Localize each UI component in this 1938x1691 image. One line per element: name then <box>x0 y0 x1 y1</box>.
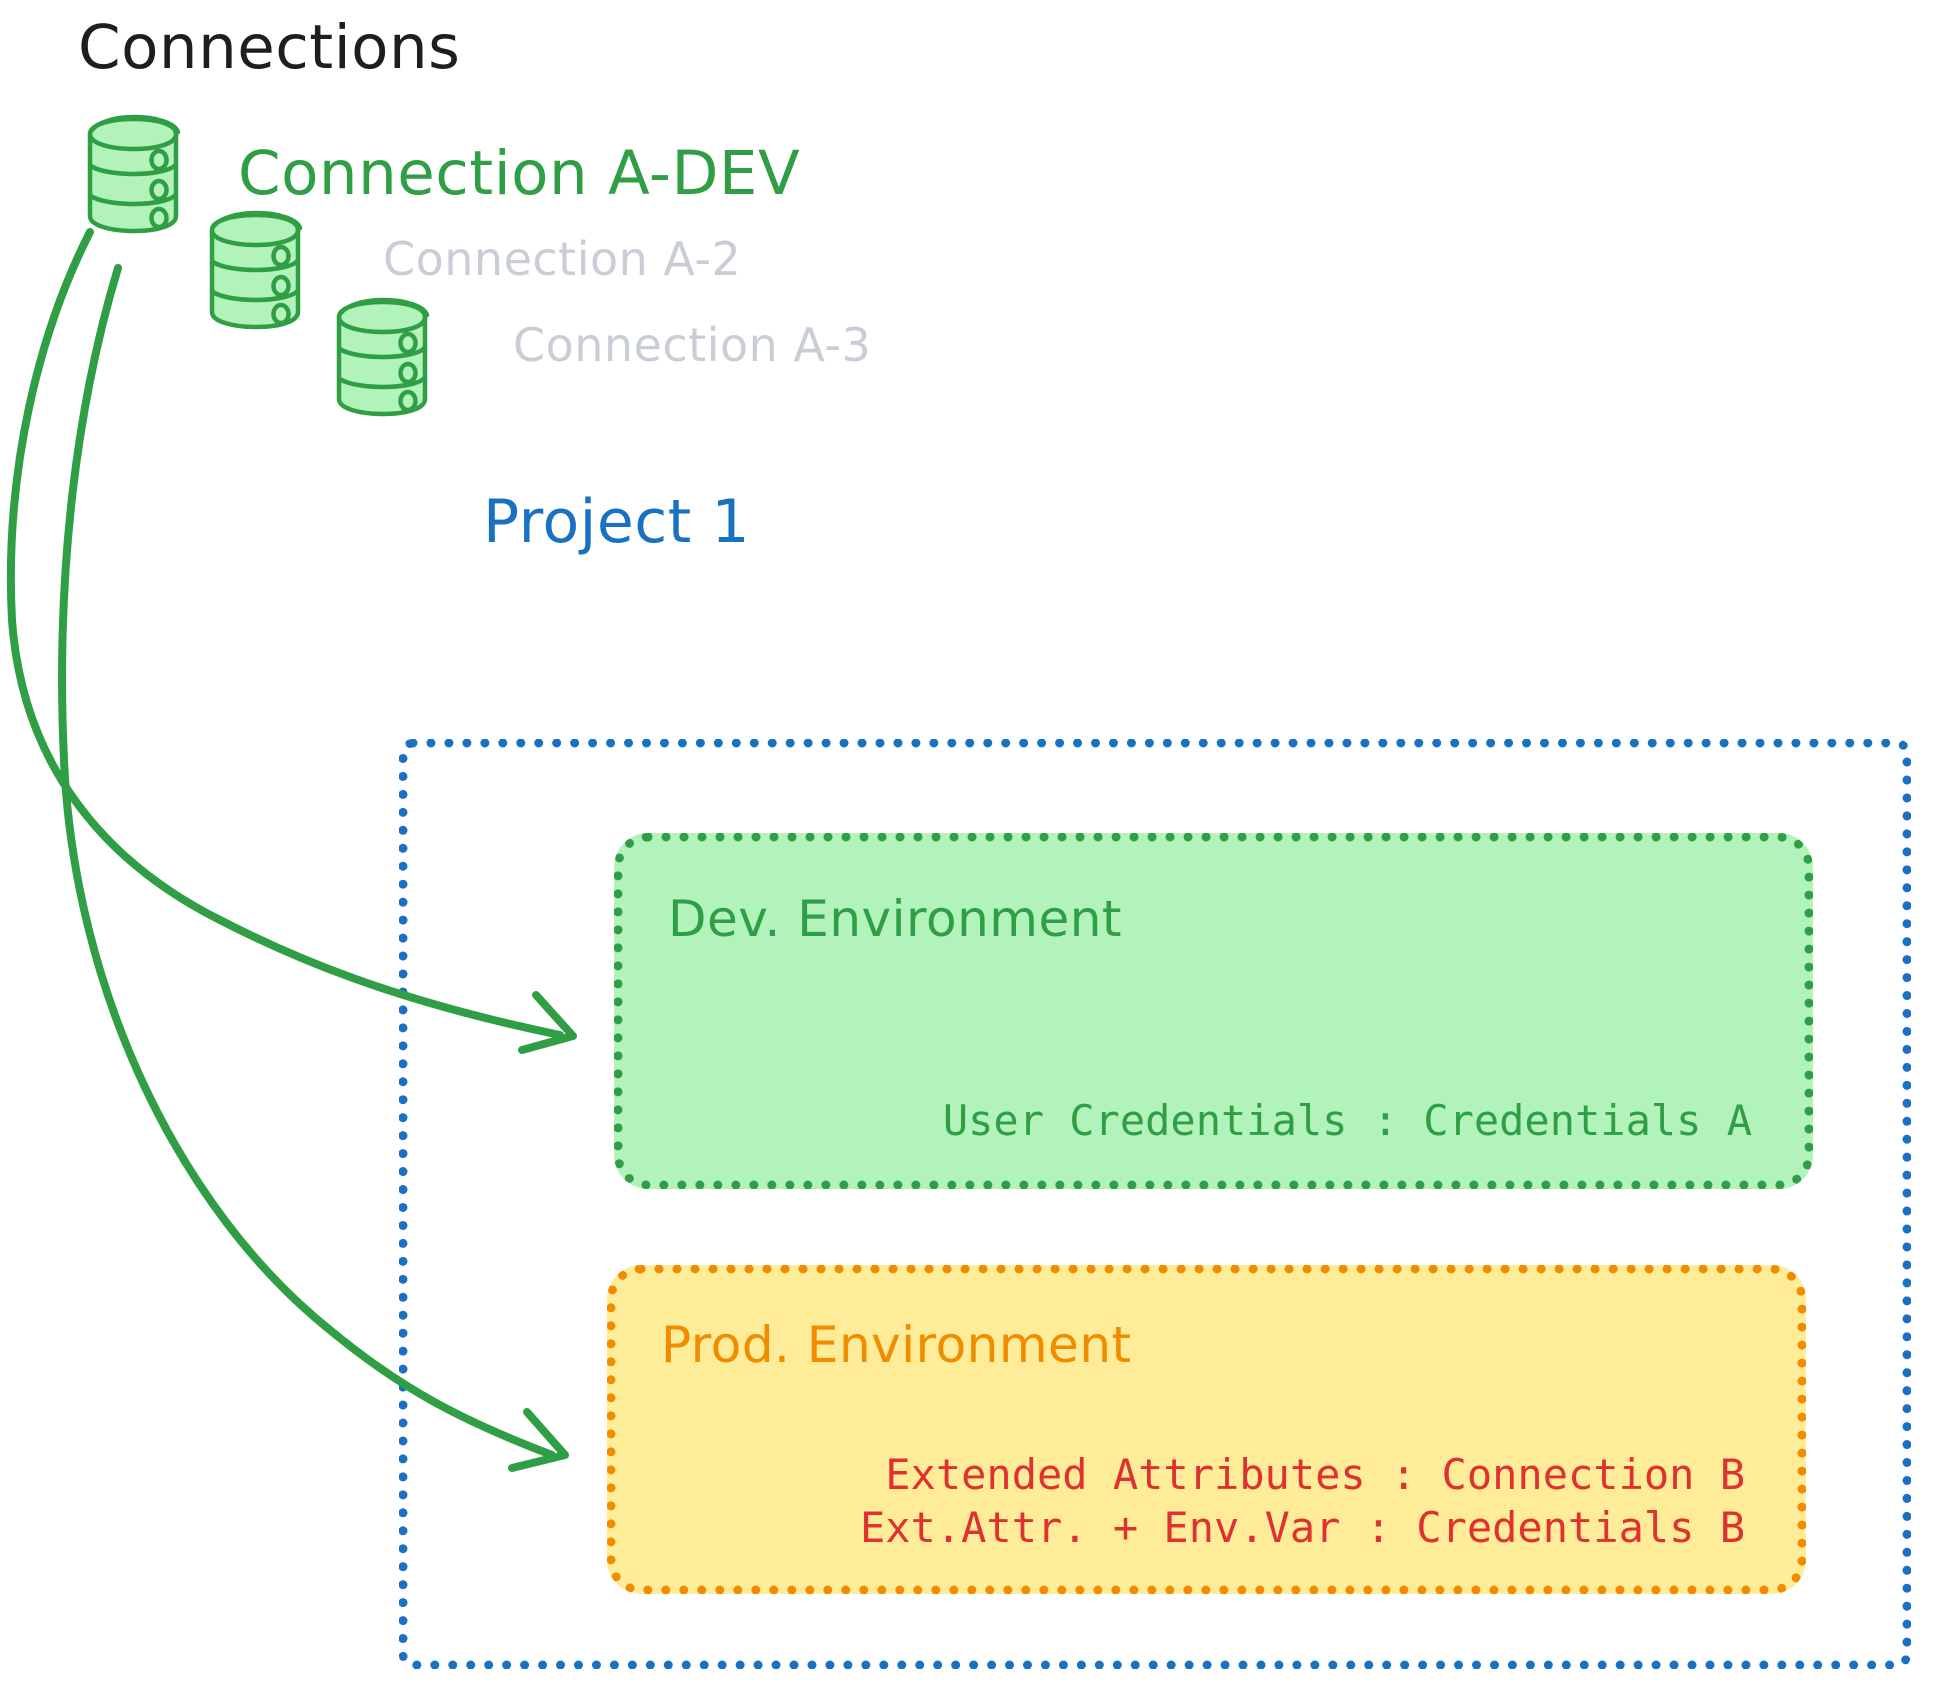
dev-environment-rows: User Credentials : Credentials A <box>943 1094 1752 1148</box>
connection-label-a-2: Connection A-2 <box>383 232 741 286</box>
prod-environment-box: Prod. Environment Extended Attributes : … <box>607 1265 1806 1594</box>
database-icon[interactable] <box>198 208 306 340</box>
dev-environment-title: Dev. Environment <box>668 890 1122 948</box>
prod-row-extended-attributes: Extended Attributes : Connection B <box>860 1448 1745 1502</box>
prod-row-ext-attr-env-var: Ext.Attr. + Env.Var : Credentials B <box>860 1501 1745 1555</box>
database-icon[interactable] <box>76 112 184 244</box>
dev-row-user-credentials: User Credentials : Credentials A <box>943 1094 1752 1148</box>
connection-label-a-3: Connection A-3 <box>513 318 871 372</box>
connection-label-a-dev: Connection A-DEV <box>238 138 800 209</box>
diagram-canvas: Connections Connection A-DEV <box>0 0 1938 1691</box>
dev-environment-box: Dev. Environment User Credentials : Cred… <box>614 833 1813 1189</box>
prod-environment-title: Prod. Environment <box>661 1316 1132 1374</box>
database-icon[interactable] <box>325 295 433 427</box>
page-title: Connections <box>78 12 460 83</box>
prod-environment-rows: Extended Attributes : Connection B Ext.A… <box>860 1448 1745 1556</box>
project-title: Project 1 <box>483 487 750 557</box>
